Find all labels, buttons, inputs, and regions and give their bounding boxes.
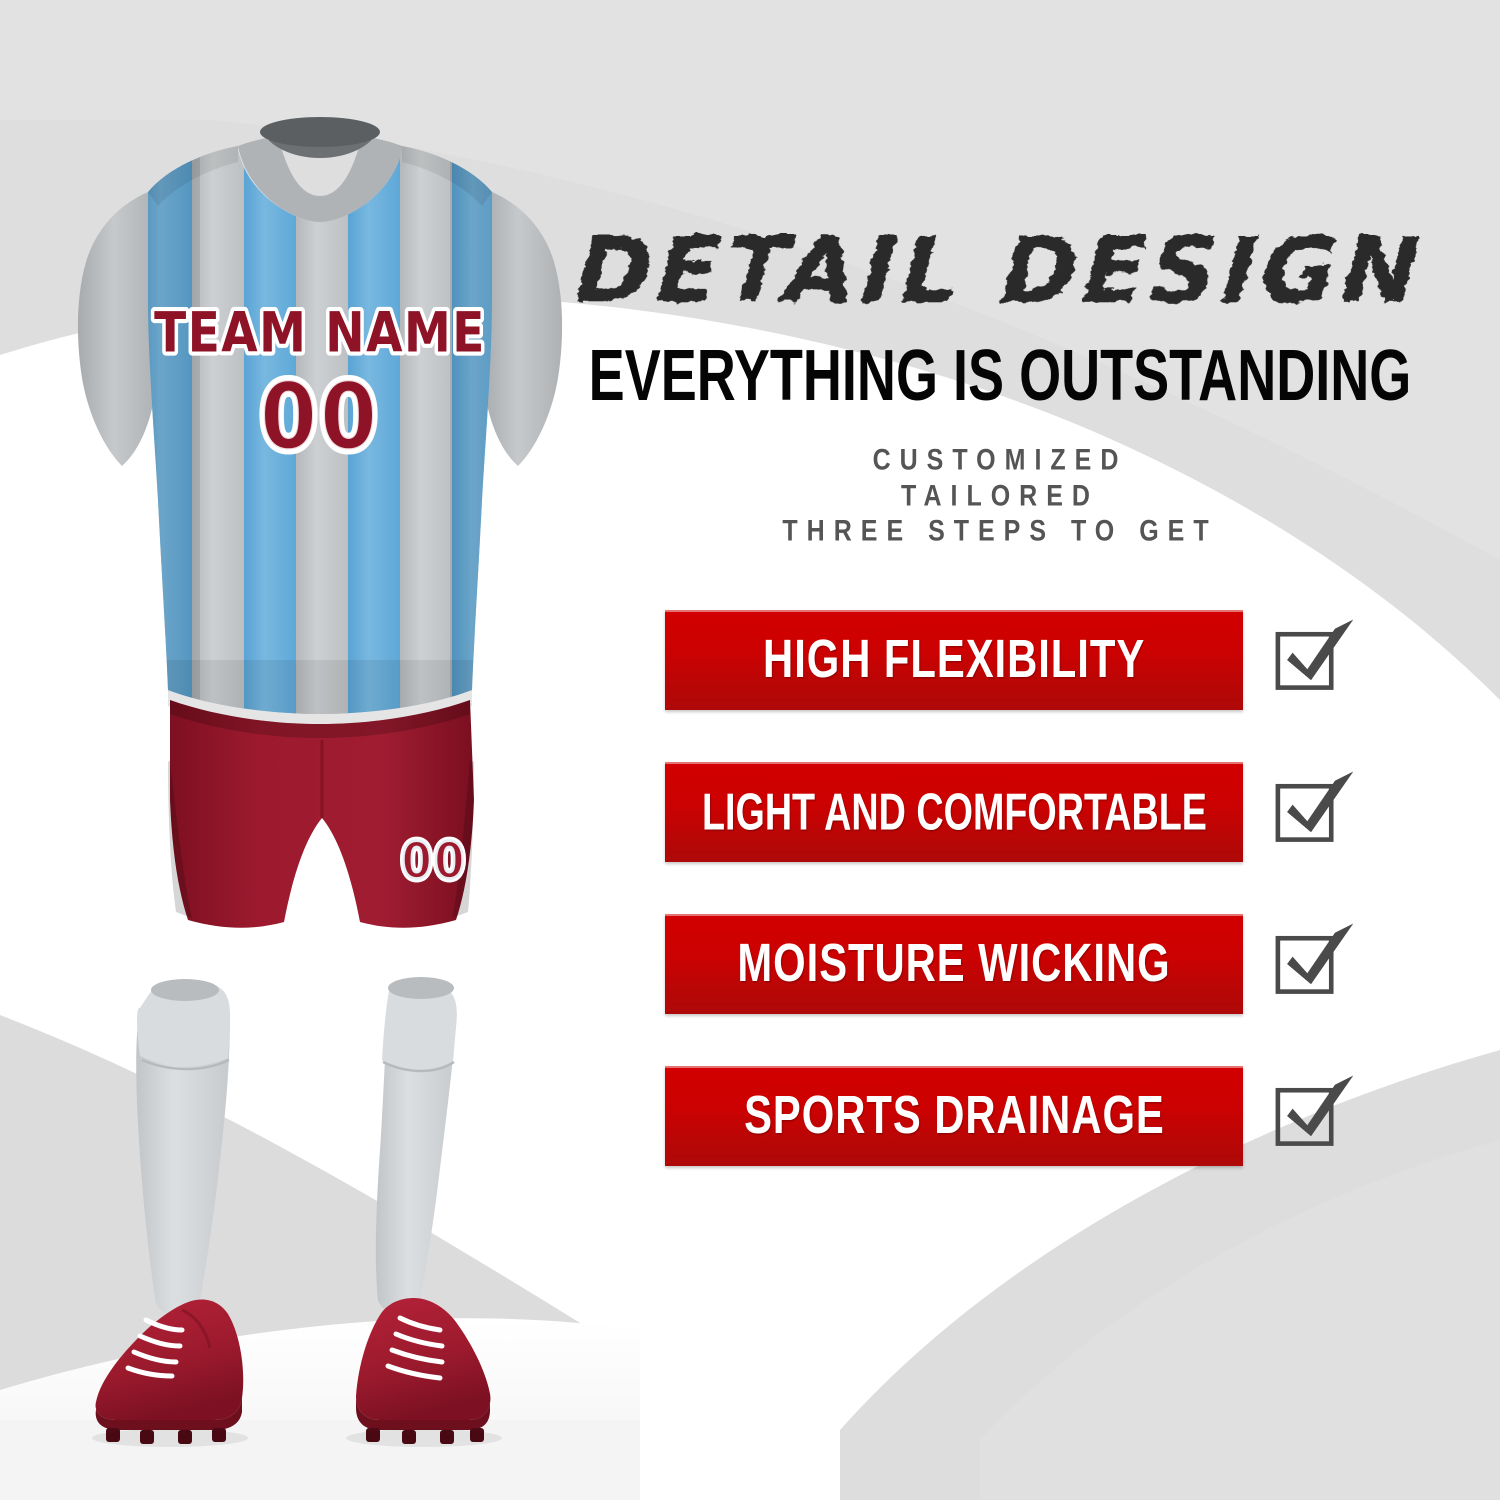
- shorts-number: 00 00 00: [401, 832, 466, 890]
- tagline-block: CUSTOMIZED TAILORED THREE STEPS TO GET: [555, 443, 1445, 550]
- jersey: TEAM NAME TEAM NAME 00 00 00: [78, 117, 562, 730]
- svg-text:00: 00: [401, 832, 466, 890]
- feature-row[interactable]: LIGHT AND COMFORTABLE: [665, 762, 1425, 862]
- page-title: DETAIL DESIGN: [552, 225, 1448, 317]
- checkbox-checked-icon[interactable]: [1265, 766, 1357, 858]
- feature-label: SPORTS DRAINAGE: [744, 1086, 1165, 1147]
- feature-list: HIGH FLEXIBILITY LIGHT AND COMFORTABLE: [665, 610, 1425, 1218]
- poster-canvas: TEAM NAME TEAM NAME 00 00 00: [0, 0, 1500, 1500]
- checkbox-checked-icon[interactable]: [1265, 1070, 1357, 1162]
- feature-bar-high-flexibility[interactable]: HIGH FLEXIBILITY: [665, 610, 1243, 710]
- feature-row[interactable]: SPORTS DRAINAGE: [665, 1066, 1425, 1166]
- feature-label: LIGHT AND COMFORTABLE: [702, 782, 1207, 841]
- shorts: 00 00 00: [168, 700, 474, 928]
- feature-row[interactable]: MOISTURE WICKING: [665, 914, 1425, 1014]
- feature-bar-moisture-wicking[interactable]: MOISTURE WICKING: [665, 914, 1243, 1014]
- product-photo-soccer-kit: TEAM NAME TEAM NAME 00 00 00: [0, 0, 640, 1500]
- headline-block: DETAIL DESIGN EVERYTHING IS OUTSTANDING …: [555, 225, 1445, 550]
- feature-label: HIGH FLEXIBILITY: [763, 630, 1145, 691]
- svg-text:00: 00: [260, 363, 380, 471]
- checkbox-checked-icon[interactable]: [1265, 614, 1357, 706]
- svg-text:TEAM NAME: TEAM NAME: [154, 301, 486, 366]
- cleats: [92, 1298, 502, 1447]
- socks: [136, 977, 457, 1316]
- page-subtitle: EVERYTHING IS OUTSTANDING: [571, 339, 1430, 412]
- checkbox-checked-icon[interactable]: [1265, 918, 1357, 1010]
- feature-bar-sports-drainage[interactable]: SPORTS DRAINAGE: [665, 1066, 1243, 1166]
- feature-bar-light-and-comfortable[interactable]: LIGHT AND COMFORTABLE: [665, 762, 1243, 862]
- jersey-number: 00 00 00: [260, 363, 380, 471]
- jersey-team-name: TEAM NAME TEAM NAME: [154, 301, 486, 366]
- feature-row[interactable]: HIGH FLEXIBILITY: [665, 610, 1425, 710]
- feature-label: MOISTURE WICKING: [737, 934, 1170, 995]
- tagline-line-3: THREE STEPS TO GET: [555, 511, 1445, 553]
